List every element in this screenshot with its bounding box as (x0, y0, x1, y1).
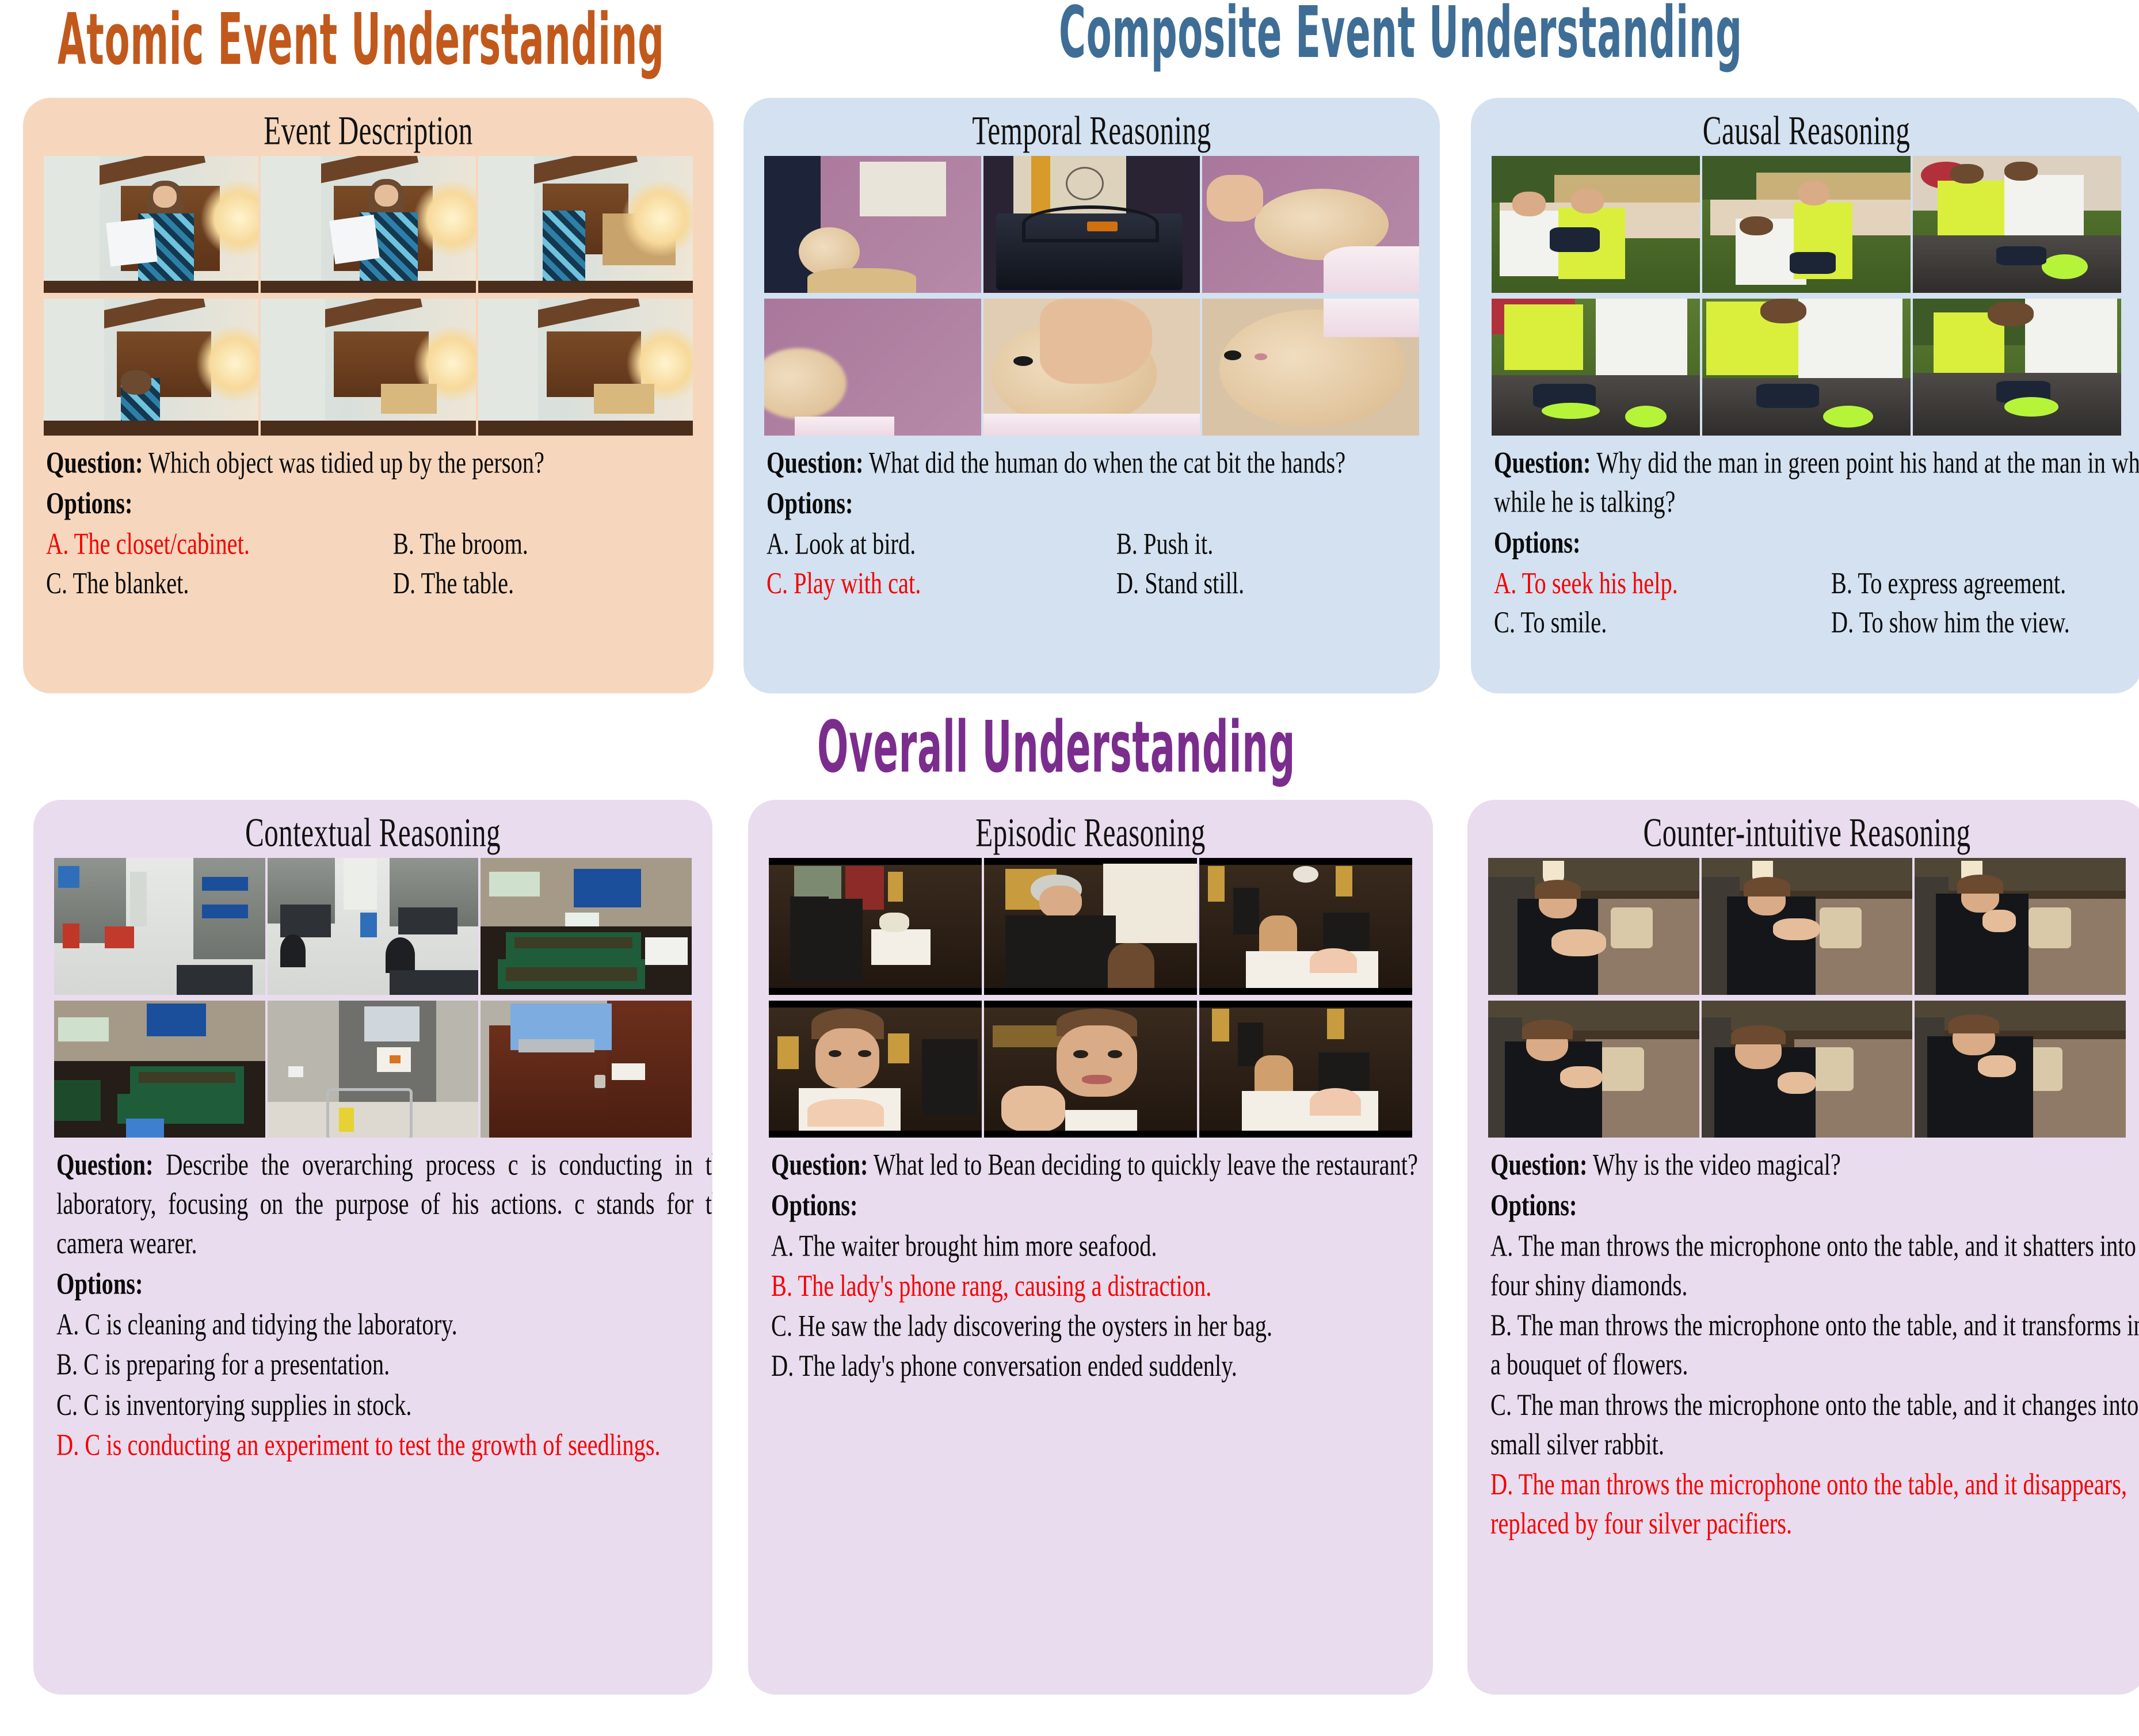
video-frame (54, 858, 265, 995)
frame-row-top (1488, 858, 2126, 995)
video-frame (261, 156, 475, 293)
video-frame-strip-temporal-reasoning (764, 156, 1419, 436)
option-key: D. (1831, 606, 1854, 640)
video-frame (1199, 1001, 1412, 1138)
option-key: B. (1831, 567, 1852, 600)
video-frame (481, 858, 692, 995)
option-text: To smile. (1520, 606, 1607, 640)
options-list: A. The waiter brought him more seafood. … (771, 1227, 1433, 1386)
options-list: A. The man throws the microphone onto th… (1490, 1227, 2139, 1544)
option-text: Stand still. (1145, 567, 1244, 600)
option-key: B. (56, 1348, 78, 1382)
card-title-contextual-reasoning: Contextual Reasoning (94, 800, 651, 863)
question-label: Question: (771, 1148, 868, 1181)
option-d[interactable]: D. The man throws the microphone onto th… (1490, 1465, 2139, 1544)
video-frame (1202, 299, 1419, 436)
options-list: A. C is cleaning and tidying the laborat… (56, 1306, 712, 1465)
question-line: Question: Why is the video magical? (1490, 1146, 2139, 1185)
option-text: To seek his help. (1522, 567, 1678, 600)
option-c[interactable]: C. C is inventorying supplies in stock. (56, 1386, 712, 1425)
card-title-temporal-reasoning: Temporal Reasoning (806, 98, 1377, 161)
video-frame-strip-counter-intuitive-reasoning (1488, 858, 2126, 1138)
option-key: D. (771, 1349, 794, 1383)
video-frame (1202, 156, 1419, 293)
option-b[interactable]: B. C is preparing for a presentation. (56, 1346, 712, 1385)
option-text: The table. (421, 567, 514, 600)
video-frame (478, 299, 693, 436)
card-contextual-reasoning: Contextual Reasoning (33, 800, 712, 1695)
video-frame (764, 299, 981, 436)
card-episodic-reasoning: Episodic Reasoning (748, 800, 1433, 1695)
question-line: Question: What led to Bean deciding to q… (771, 1146, 1433, 1185)
option-text: The man throws the microphone onto the t… (1490, 1309, 2139, 1382)
video-frame (1492, 299, 1700, 436)
option-text: Push it. (1143, 528, 1213, 561)
video-frame (983, 299, 1200, 436)
frame-row-top (769, 858, 1412, 995)
option-text: To show him the view. (1859, 606, 2070, 640)
option-key: B. (771, 1269, 792, 1303)
video-frame (481, 1001, 692, 1138)
option-a[interactable]: A. The waiter brought him more seafood. (771, 1227, 1433, 1266)
option-text: The lady's phone conversation ended sudd… (799, 1349, 1237, 1383)
options-grid: A. The closet/cabinet. B. The broom. C. … (46, 525, 714, 604)
option-key: A. (771, 1230, 794, 1263)
question-label: Question: (767, 446, 863, 479)
options-label: Options: (1494, 526, 1581, 560)
option-a[interactable]: A. Look at bird. (767, 525, 1111, 564)
video-frame-strip-event-description (44, 156, 693, 436)
option-c[interactable]: C. The blanket. (46, 564, 388, 604)
option-text: C is cleaning and tidying the laboratory… (85, 1308, 457, 1342)
video-frame (1488, 1001, 1699, 1138)
question-text: What did the human do when the cat bit t… (869, 446, 1345, 479)
question-text: Describe the overarching process c is co… (56, 1148, 712, 1260)
video-frame (1702, 156, 1911, 293)
option-text: Play with cat. (794, 567, 921, 600)
question-text: What led to Bean deciding to quickly lea… (874, 1148, 1418, 1181)
option-key: B. (1490, 1309, 1512, 1342)
question-label: Question: (1494, 446, 1591, 479)
option-d[interactable]: D. Stand still. (1116, 564, 1440, 604)
video-frame (1913, 156, 2121, 293)
option-text: The broom. (420, 528, 528, 561)
option-key: D. (393, 567, 415, 600)
section-title-atomic: Atomic Event Understanding (58, 0, 665, 81)
option-text: Look at bird. (795, 528, 916, 561)
option-text: The man throws the microphone onto the t… (1490, 1468, 2127, 1541)
video-frame (1915, 1001, 2126, 1138)
options-label: Options: (1490, 1189, 1577, 1222)
qa-block-temporal-reasoning: Question: What did the human do when the… (767, 444, 1440, 604)
video-frame-strip-causal-reasoning (1492, 156, 2121, 436)
options-label: Options: (771, 1189, 858, 1222)
video-frame (984, 858, 1197, 995)
qa-block-counter-intuitive-reasoning: Question: Why is the video magical? Opti… (1490, 1146, 2139, 1544)
question-text: Why is the video magical? (1593, 1148, 1841, 1181)
option-text: He saw the lady discovering the oysters … (798, 1310, 1272, 1343)
qa-block-event-description: Question: Which object was tidied up by … (46, 444, 714, 604)
video-frame (268, 858, 479, 995)
question-label: Question: (1490, 1148, 1587, 1181)
option-c[interactable]: C. Play with cat. (767, 564, 1111, 604)
option-b[interactable]: B. To express agreement. (1831, 564, 2139, 604)
option-key: B. (1116, 528, 1138, 561)
video-frame (261, 299, 475, 436)
option-key: A. (46, 528, 68, 561)
option-text: The man throws the microphone onto the t… (1490, 1388, 2139, 1462)
option-key: A. (767, 528, 789, 561)
option-key: C. (46, 567, 67, 600)
video-frame-strip-episodic-reasoning (769, 858, 1412, 1138)
frame-row-top (44, 156, 693, 293)
question-label: Question: (46, 446, 143, 479)
option-a[interactable]: A. C is cleaning and tidying the laborat… (56, 1306, 712, 1345)
video-frame (268, 1001, 479, 1138)
option-text: To express agreement. (1858, 567, 2066, 600)
option-text: The man throws the microphone onto the t… (1490, 1230, 2136, 1303)
video-frame (769, 858, 982, 995)
option-b[interactable]: B. Push it. (1116, 525, 1440, 564)
video-frame (1488, 858, 1699, 995)
card-title-causal-reasoning: Causal Reasoning (1531, 98, 2081, 161)
video-frame (44, 156, 258, 293)
video-frame (1702, 858, 1913, 995)
frame-row-bottom (769, 1001, 1412, 1138)
video-frame (983, 156, 1200, 293)
video-frame (1492, 156, 1700, 293)
options-grid: A. Look at bird. B. Push it. C. Play wit… (767, 525, 1440, 604)
video-frame (1915, 858, 2126, 995)
question-text: Why did the man in green point his hand … (1494, 446, 2139, 519)
option-key: C. (1494, 606, 1515, 640)
card-title-event-description: Event Description (85, 98, 651, 161)
option-d[interactable]: D. The lady's phone conversation ended s… (771, 1347, 1433, 1386)
video-frame (44, 299, 258, 436)
question-label: Question: (56, 1148, 153, 1181)
question-text: Which object was tidied up by the person… (148, 446, 544, 479)
options-label: Options: (767, 487, 853, 520)
frame-row-top (764, 156, 1419, 293)
option-key: B. (393, 528, 414, 561)
question-line: Question: Why did the man in green point… (1494, 444, 2139, 522)
option-key: C. (1490, 1388, 1512, 1422)
option-text: The closet/cabinet. (74, 528, 250, 561)
frame-row-bottom (1488, 1001, 2126, 1138)
video-frame (478, 156, 693, 293)
option-d[interactable]: D. C is conducting an experiment to test… (56, 1426, 712, 1465)
option-text: The waiter brought him more seafood. (799, 1230, 1157, 1263)
option-a[interactable]: A. The closet/cabinet. (46, 525, 388, 564)
option-b[interactable]: B. The lady's phone rang, causing a dist… (771, 1267, 1433, 1306)
card-temporal-reasoning: Temporal Reasoning (743, 98, 1440, 693)
option-key: A. (1494, 567, 1516, 600)
card-counter-intuitive-reasoning: Counter-intuitive Reasoning (1467, 800, 2139, 1695)
qa-block-episodic-reasoning: Question: What led to Bean deciding to q… (771, 1146, 1433, 1386)
option-key: D. (56, 1428, 79, 1462)
question-line: Question: Which object was tidied up by … (46, 444, 714, 483)
frame-row-top (54, 858, 692, 995)
option-a[interactable]: A. To seek his help. (1494, 564, 1826, 604)
option-text: C is conducting an experiment to test th… (85, 1428, 660, 1462)
option-c[interactable]: C. To smile. (1494, 604, 1826, 643)
frame-row-bottom (44, 299, 693, 436)
option-key: A. (1490, 1230, 1513, 1263)
option-d[interactable]: D. To show him the view. (1831, 604, 2139, 643)
option-c[interactable]: C. The man throws the microphone onto th… (1490, 1386, 2139, 1464)
qa-block-contextual-reasoning: Question: Describe the overarching proce… (56, 1146, 712, 1465)
option-key: A. (56, 1308, 79, 1342)
question-line: Question: Describe the overarching proce… (56, 1146, 712, 1264)
video-frame (1199, 858, 1412, 995)
option-a[interactable]: A. The man throws the microphone onto th… (1490, 1227, 2139, 1306)
section-title-composite: Composite Event Understanding (1059, 0, 1743, 74)
video-frame (764, 156, 981, 293)
card-event-description: Event Description (23, 98, 714, 693)
option-text: The lady's phone rang, causing a distrac… (798, 1269, 1211, 1303)
qa-block-causal-reasoning: Question: Why did the man in green point… (1494, 444, 2139, 643)
option-key: D. (1490, 1468, 1513, 1501)
video-frame (1913, 299, 2121, 436)
option-key: C. (767, 567, 788, 600)
frame-row-bottom (54, 1001, 692, 1138)
options-label: Options: (46, 487, 133, 520)
options-label: Options: (56, 1268, 143, 1301)
option-text: C is preparing for a presentation. (83, 1348, 390, 1382)
frame-row-bottom (764, 299, 1419, 436)
option-key: C. (771, 1310, 792, 1343)
video-frame-strip-contextual-reasoning (54, 858, 692, 1138)
option-b[interactable]: B. The man throws the microphone onto th… (1490, 1306, 2139, 1385)
video-frame (1702, 1001, 1913, 1138)
card-title-counter-intuitive-reasoning: Counter-intuitive Reasoning (1528, 800, 2085, 863)
video-frame (1702, 299, 1911, 436)
option-text: The blanket. (73, 567, 189, 600)
frame-row-top (1492, 156, 2121, 293)
frame-row-bottom (1492, 299, 2121, 436)
option-d[interactable]: D. The table. (393, 564, 714, 604)
video-frame (769, 1001, 982, 1138)
card-causal-reasoning: Causal Reasoning (1471, 98, 2139, 693)
option-key: D. (1116, 567, 1139, 600)
options-grid: A. To seek his help. B. To express agree… (1494, 564, 2139, 643)
video-frame (984, 1001, 1197, 1138)
option-text: C is inventorying supplies in stock. (83, 1388, 411, 1422)
section-title-overall: Overall Understanding (817, 707, 1295, 789)
card-title-episodic-reasoning: Episodic Reasoning (810, 800, 1371, 863)
option-b[interactable]: B. The broom. (393, 525, 714, 564)
option-key: C. (56, 1388, 78, 1422)
video-frame (54, 1001, 265, 1138)
option-c[interactable]: C. He saw the lady discovering the oyste… (771, 1307, 1433, 1346)
question-line: Question: What did the human do when the… (767, 444, 1440, 483)
